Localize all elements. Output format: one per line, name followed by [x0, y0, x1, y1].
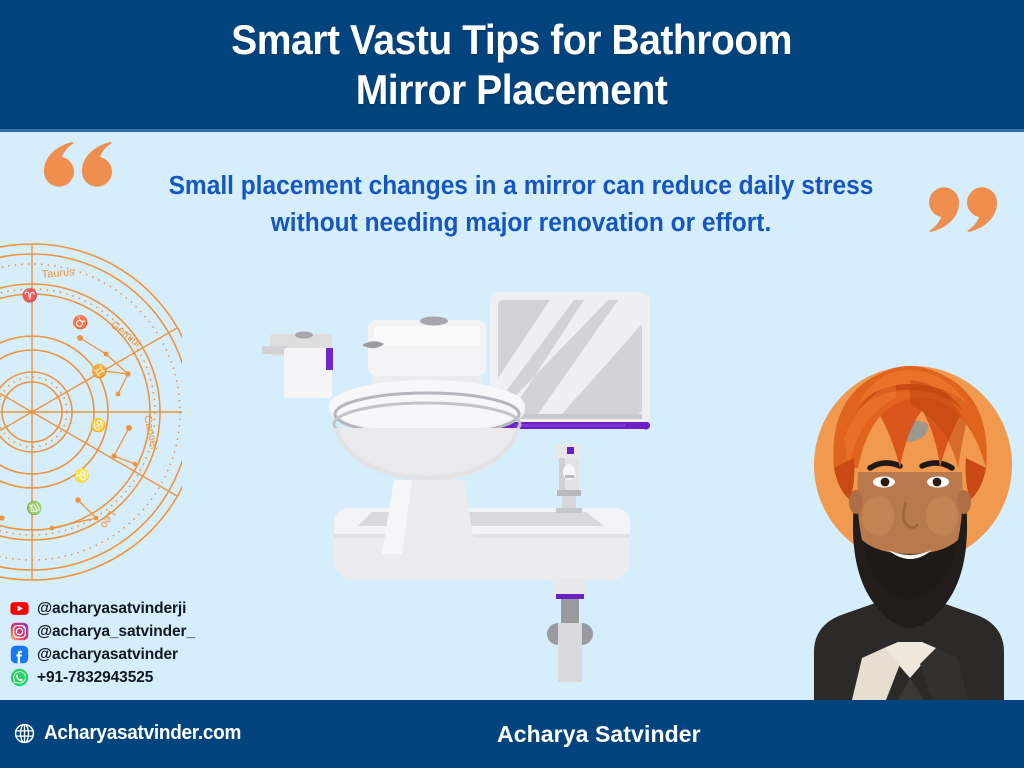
social-handle-facebook: @acharyasatvinder	[37, 647, 178, 663]
bathroom-illustration	[262, 282, 702, 682]
footer-author-name: Acharya Satvinder	[497, 721, 701, 748]
svg-text:♋: ♋	[90, 417, 106, 434]
footer-website-text: Acharyasatvinder.com	[44, 722, 241, 745]
quote-close-icon	[925, 180, 1001, 239]
social-handle-youtube: @acharyasatvinderji	[37, 601, 186, 617]
svg-text:♈: ♈	[22, 288, 39, 304]
quote-line-1: Small placement changes in a mirror can …	[163, 168, 879, 205]
svg-text:Taurus: Taurus	[41, 266, 75, 281]
globe-icon	[14, 723, 35, 744]
svg-text:♊: ♊	[89, 360, 111, 382]
footer-website-link[interactable]: Acharyasatvinder.com	[14, 722, 251, 745]
youtube-icon	[10, 599, 29, 618]
svg-text:♉: ♉	[69, 312, 91, 333]
portrait-circle-backdrop	[814, 366, 1012, 564]
quote-line-2: without needing major renovation or effo…	[163, 205, 879, 242]
page-title-line-1: Smart Vastu Tips for Bathroom	[232, 15, 793, 65]
zodiac-wheel-watermark: ♈ ♉ ♊ ♋ ♌ ♍ Aries Taurus Gemini Cancer L…	[0, 242, 182, 582]
poster-canvas: Smart Vastu Tips for Bathroom Mirror Pla…	[0, 0, 1024, 768]
social-handle-instagram: @acharya_satvinder_	[37, 624, 195, 640]
page-title-line-2: Mirror Placement	[356, 65, 668, 115]
social-link-instagram[interactable]: @acharya_satvinder_	[10, 621, 195, 642]
social-link-whatsapp[interactable]: +91-7832943525	[10, 667, 195, 688]
portrait-background	[796, 352, 1024, 700]
svg-text:♌: ♌	[72, 465, 92, 486]
footer-bar: Acharyasatvinder.com Acharya Satvinder	[0, 700, 1024, 768]
social-handle-whatsapp: +91-7832943525	[37, 670, 153, 686]
svg-text:♍: ♍	[23, 497, 45, 518]
svg-text:Gemini: Gemini	[108, 319, 143, 350]
instagram-icon	[10, 622, 29, 641]
social-link-youtube[interactable]: @acharyasatvinderji	[10, 598, 195, 619]
facebook-icon	[10, 645, 29, 664]
whatsapp-icon	[10, 668, 29, 687]
social-links-block: @acharyasatvinderji	[10, 598, 195, 690]
header-banner: Smart Vastu Tips for Bathroom Mirror Pla…	[0, 0, 1024, 132]
quote-open-icon	[42, 140, 118, 199]
svg-text:Cancer: Cancer	[141, 414, 160, 452]
svg-text:Leo: Leo	[98, 508, 118, 530]
quote-text-block: Small placement changes in a mirror can …	[163, 168, 879, 242]
social-link-facebook[interactable]: @acharyasatvinder	[10, 644, 195, 665]
